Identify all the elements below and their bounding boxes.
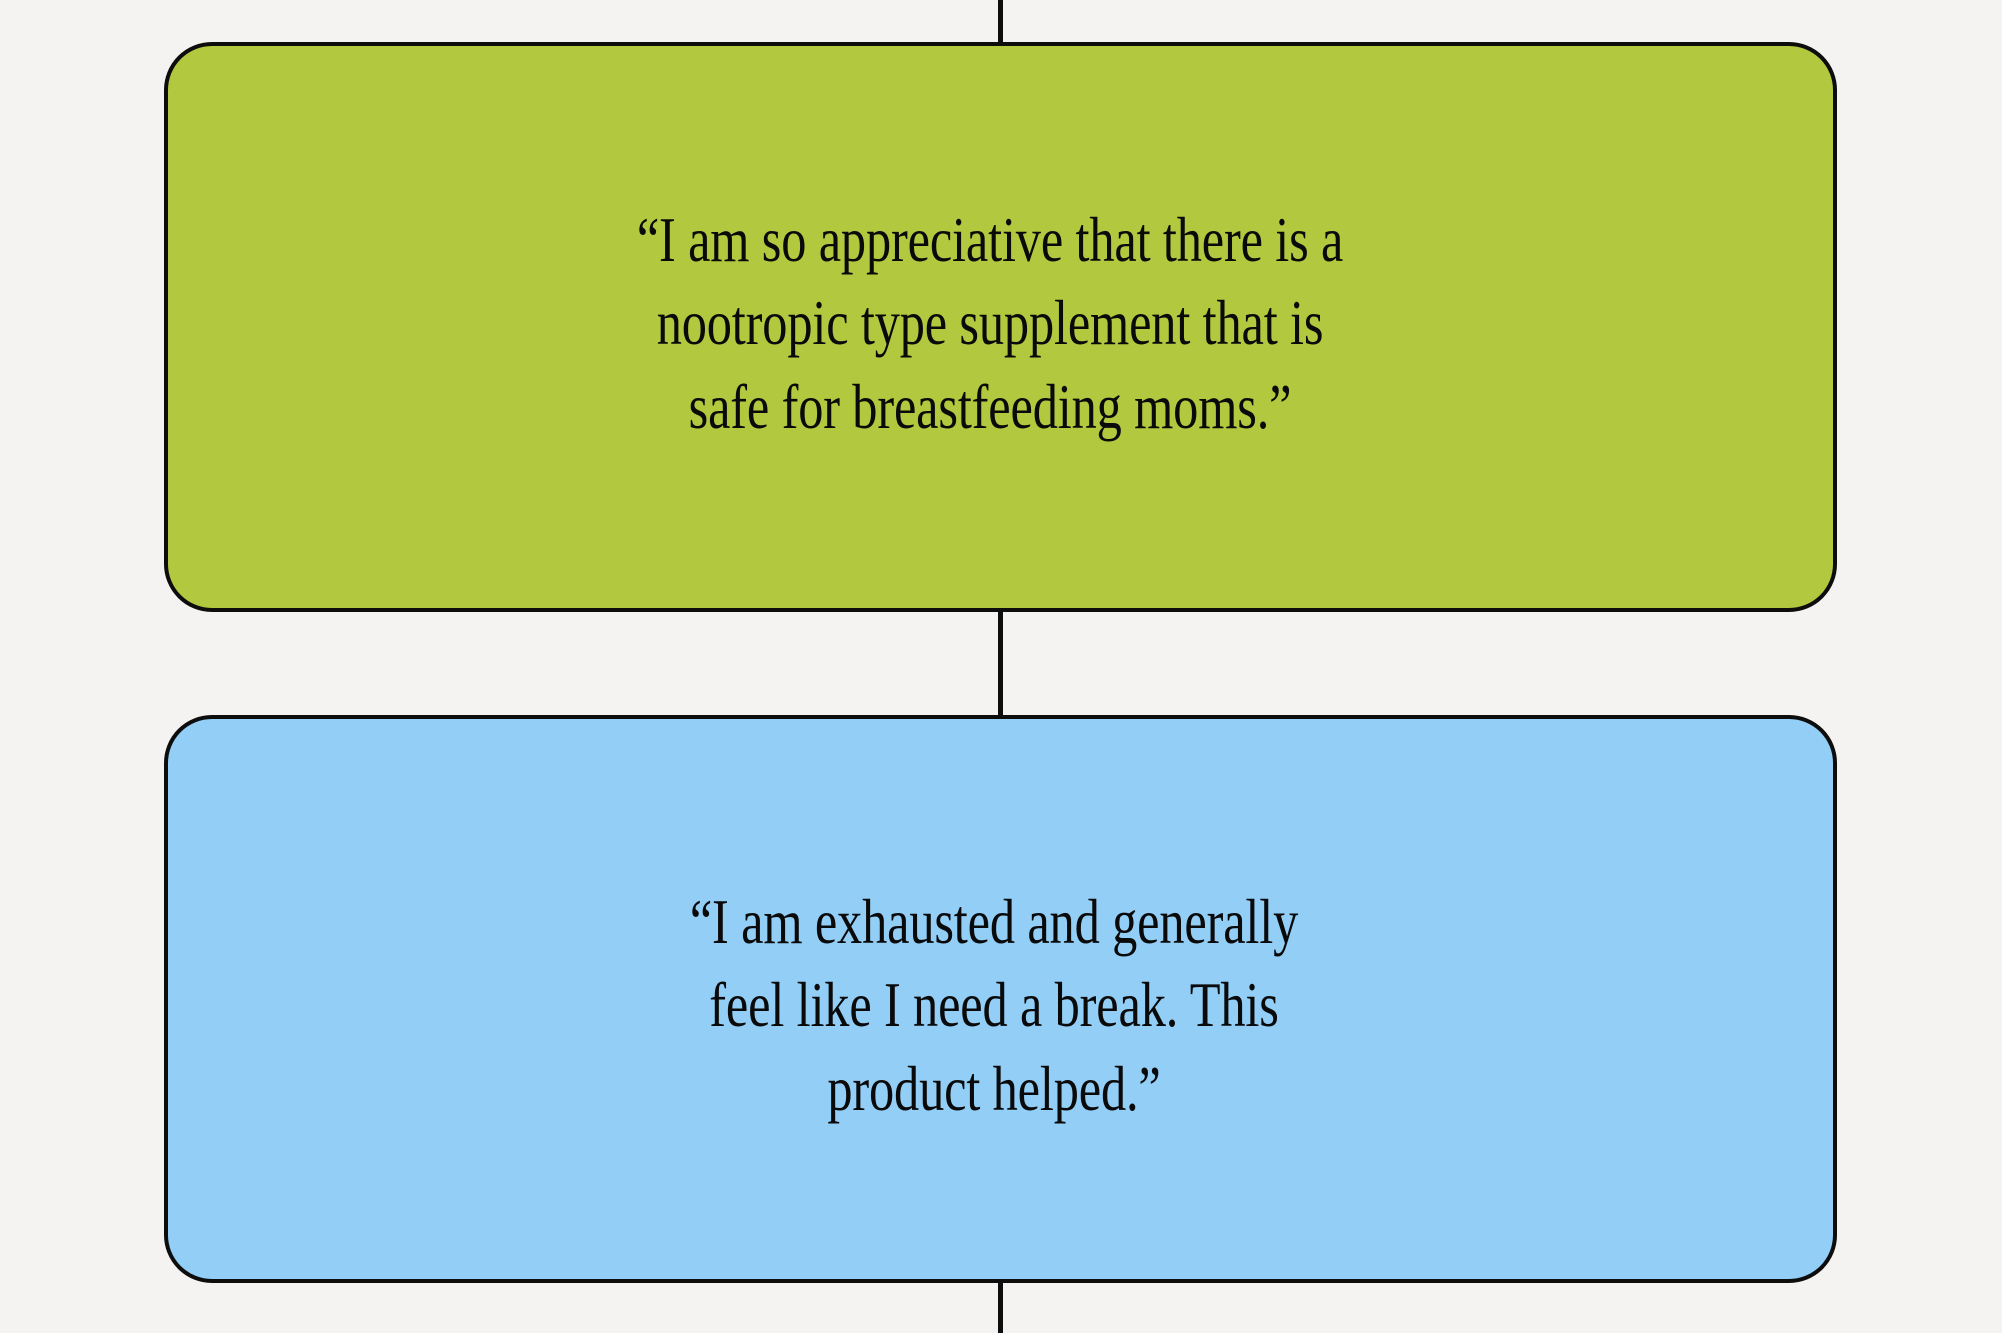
quote-node-blue-text: “I am exhausted and generally feel like …	[562, 881, 1426, 1130]
connector-line-middle	[998, 610, 1003, 717]
diagram-canvas: “I am so appreciative that there is a no…	[0, 0, 2002, 1333]
quote-node-blue[interactable]: “I am exhausted and generally feel like …	[164, 715, 1837, 1283]
quote-node-green-text: “I am so appreciative that there is a no…	[558, 199, 1422, 448]
quote-node-green[interactable]: “I am so appreciative that there is a no…	[164, 42, 1837, 612]
connector-line-top	[998, 0, 1003, 44]
connector-line-bottom	[998, 1281, 1003, 1333]
